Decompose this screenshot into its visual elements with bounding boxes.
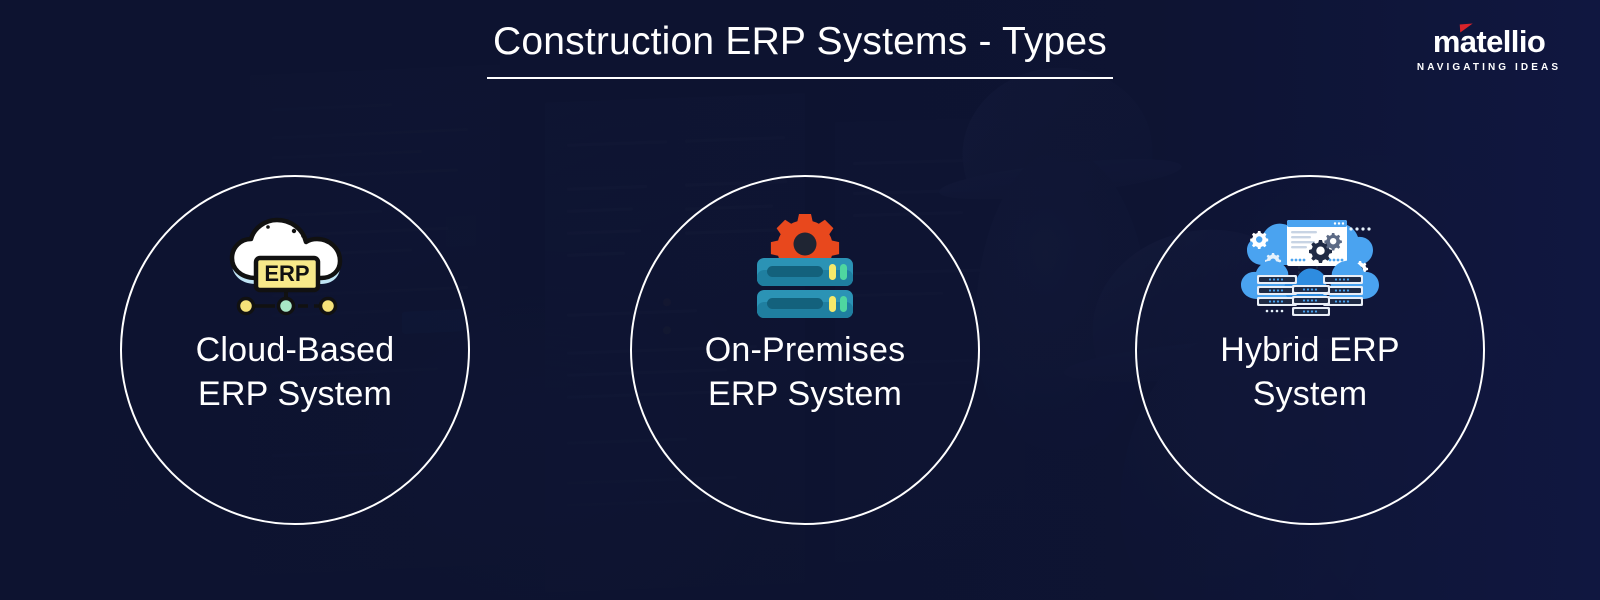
- infographic-slide: Construction ERP Systems - Types matelli…: [0, 0, 1600, 600]
- cloud-erp-icon: ERP: [220, 175, 370, 325]
- card-label-line1: Hybrid ERP: [1150, 329, 1470, 373]
- dashboard-panel-icon: [1287, 220, 1347, 266]
- server-gear-icon: [745, 175, 865, 325]
- card-cloud-based[interactable]: ERP Cloud-Based ERP System: [120, 175, 470, 525]
- logo-wordmark: matellio: [1433, 26, 1545, 57]
- card-label-line1: Cloud-Based: [135, 329, 455, 373]
- card-label-line2: System: [1150, 373, 1470, 417]
- rack-center-icon: [1292, 285, 1330, 316]
- card-label-hybrid: Hybrid ERP System: [1150, 329, 1470, 416]
- card-label-cloud-based: Cloud-Based ERP System: [135, 329, 455, 416]
- cloud-erp-badge-text: ERP: [264, 261, 309, 286]
- page-title-container: Construction ERP Systems - Types: [0, 20, 1600, 79]
- card-hybrid[interactable]: Hybrid ERP System: [1135, 175, 1485, 525]
- server-unit-bottom: [757, 290, 853, 318]
- card-label-line2: ERP System: [645, 373, 965, 417]
- brand-logo: matellio NAVIGATING IDEAS: [1404, 26, 1574, 73]
- server-unit-top: [757, 258, 853, 286]
- card-label-line1: On-Premises: [645, 329, 965, 373]
- server-gear-icon-svg: [745, 214, 865, 324]
- hybrid-cloud-servers-icon-svg: [1235, 213, 1385, 325]
- card-label-line2: ERP System: [135, 373, 455, 417]
- page-title: Construction ERP Systems - Types: [487, 20, 1113, 79]
- card-on-premises[interactable]: On-Premises ERP System: [630, 175, 980, 525]
- hybrid-cloud-servers-icon: [1235, 175, 1385, 325]
- logo-accent-icon: [1460, 24, 1474, 33]
- rack-left-icon: [1257, 275, 1297, 312]
- cloud-erp-icon-svg: ERP: [220, 214, 370, 324]
- logo-tagline: NAVIGATING IDEAS: [1404, 62, 1574, 73]
- card-label-on-premises: On-Premises ERP System: [645, 329, 965, 416]
